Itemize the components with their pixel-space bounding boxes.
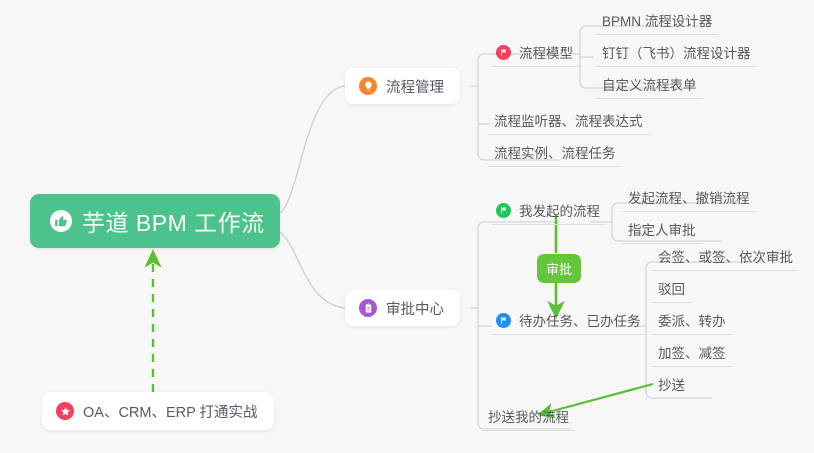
branch-node-process-management[interactable]: 流程管理 [345, 68, 460, 104]
node-cc-to-me-process[interactable]: 抄送我的流程 [482, 405, 575, 431]
thumbs-up-icon [50, 210, 72, 232]
lightbulb-icon [359, 77, 377, 95]
node-todo-done-tasks[interactable]: 待办任务、已办任务 [492, 309, 647, 335]
node-label: 会签、或签、依次审批 [658, 246, 793, 266]
flag-icon [496, 313, 511, 328]
node-my-initiated-process[interactable]: 我发起的流程 [492, 199, 606, 225]
node-label: 自定义流程表单 [602, 74, 697, 94]
node-custom-process-form[interactable]: 自定义流程表单 [596, 73, 703, 99]
node-label: 待办任务、已办任务 [519, 310, 641, 330]
node-assignee-approval[interactable]: 指定人审批 [622, 218, 702, 244]
node-label: 抄送 [658, 374, 685, 394]
node-start-cancel-process[interactable]: 发起流程、撤销流程 [622, 186, 756, 212]
node-label: 驳回 [658, 278, 685, 298]
node-process-model[interactable]: 流程模型 [492, 41, 579, 67]
flag-icon [496, 45, 511, 60]
integration-note-label: OA、CRM、ERP 打通实战 [83, 401, 258, 422]
node-label: 流程模型 [519, 42, 573, 62]
node-label: 委派、转办 [658, 310, 726, 330]
node-delegate-transfer[interactable]: 委派、转办 [652, 309, 732, 335]
node-label: 我发起的流程 [519, 200, 600, 220]
node-cc[interactable]: 抄送 [652, 373, 691, 399]
node-label: 加签、减签 [658, 342, 726, 362]
node-label: BPMN 流程设计器 [602, 10, 712, 30]
branch-label: 审批中心 [386, 298, 444, 319]
clipboard-icon [359, 299, 377, 317]
node-label: 流程实例、流程任务 [494, 142, 616, 162]
branch-label: 流程管理 [386, 76, 444, 97]
node-label: 指定人审批 [628, 219, 696, 239]
approval-badge: 审批 [537, 254, 581, 283]
node-label: 钉钉（飞书）流程设计器 [602, 42, 751, 62]
node-process-listener-expression[interactable]: 流程监听器、流程表达式 [488, 109, 649, 135]
node-reject[interactable]: 驳回 [652, 277, 691, 303]
node-label: 抄送我的流程 [488, 406, 569, 426]
node-process-instance-task[interactable]: 流程实例、流程任务 [488, 141, 622, 167]
branch-node-approval-center[interactable]: 审批中心 [345, 290, 460, 326]
root-label: 芋道 BPM 工作流 [82, 204, 265, 238]
node-add-remove-sign[interactable]: 加签、减签 [652, 341, 732, 367]
approval-badge-label: 审批 [546, 262, 572, 277]
flag-icon [496, 203, 511, 218]
node-label: 发起流程、撤销流程 [628, 187, 750, 207]
node-countersign-or-sequential[interactable]: 会签、或签、依次审批 [652, 245, 799, 271]
root-node[interactable]: 芋道 BPM 工作流 [30, 194, 280, 248]
node-dingtalk-feishu-designer[interactable]: 钉钉（飞书）流程设计器 [596, 41, 757, 67]
mindmap-canvas: 芋道 BPM 工作流 流程管理 流程模型 BPMN 流程设计器 钉钉（飞书）流程… [0, 0, 814, 453]
star-icon [56, 402, 74, 420]
node-bpmn-designer[interactable]: BPMN 流程设计器 [596, 9, 718, 35]
integration-note-card[interactable]: OA、CRM、ERP 打通实战 [42, 392, 274, 430]
node-label: 流程监听器、流程表达式 [494, 110, 643, 130]
